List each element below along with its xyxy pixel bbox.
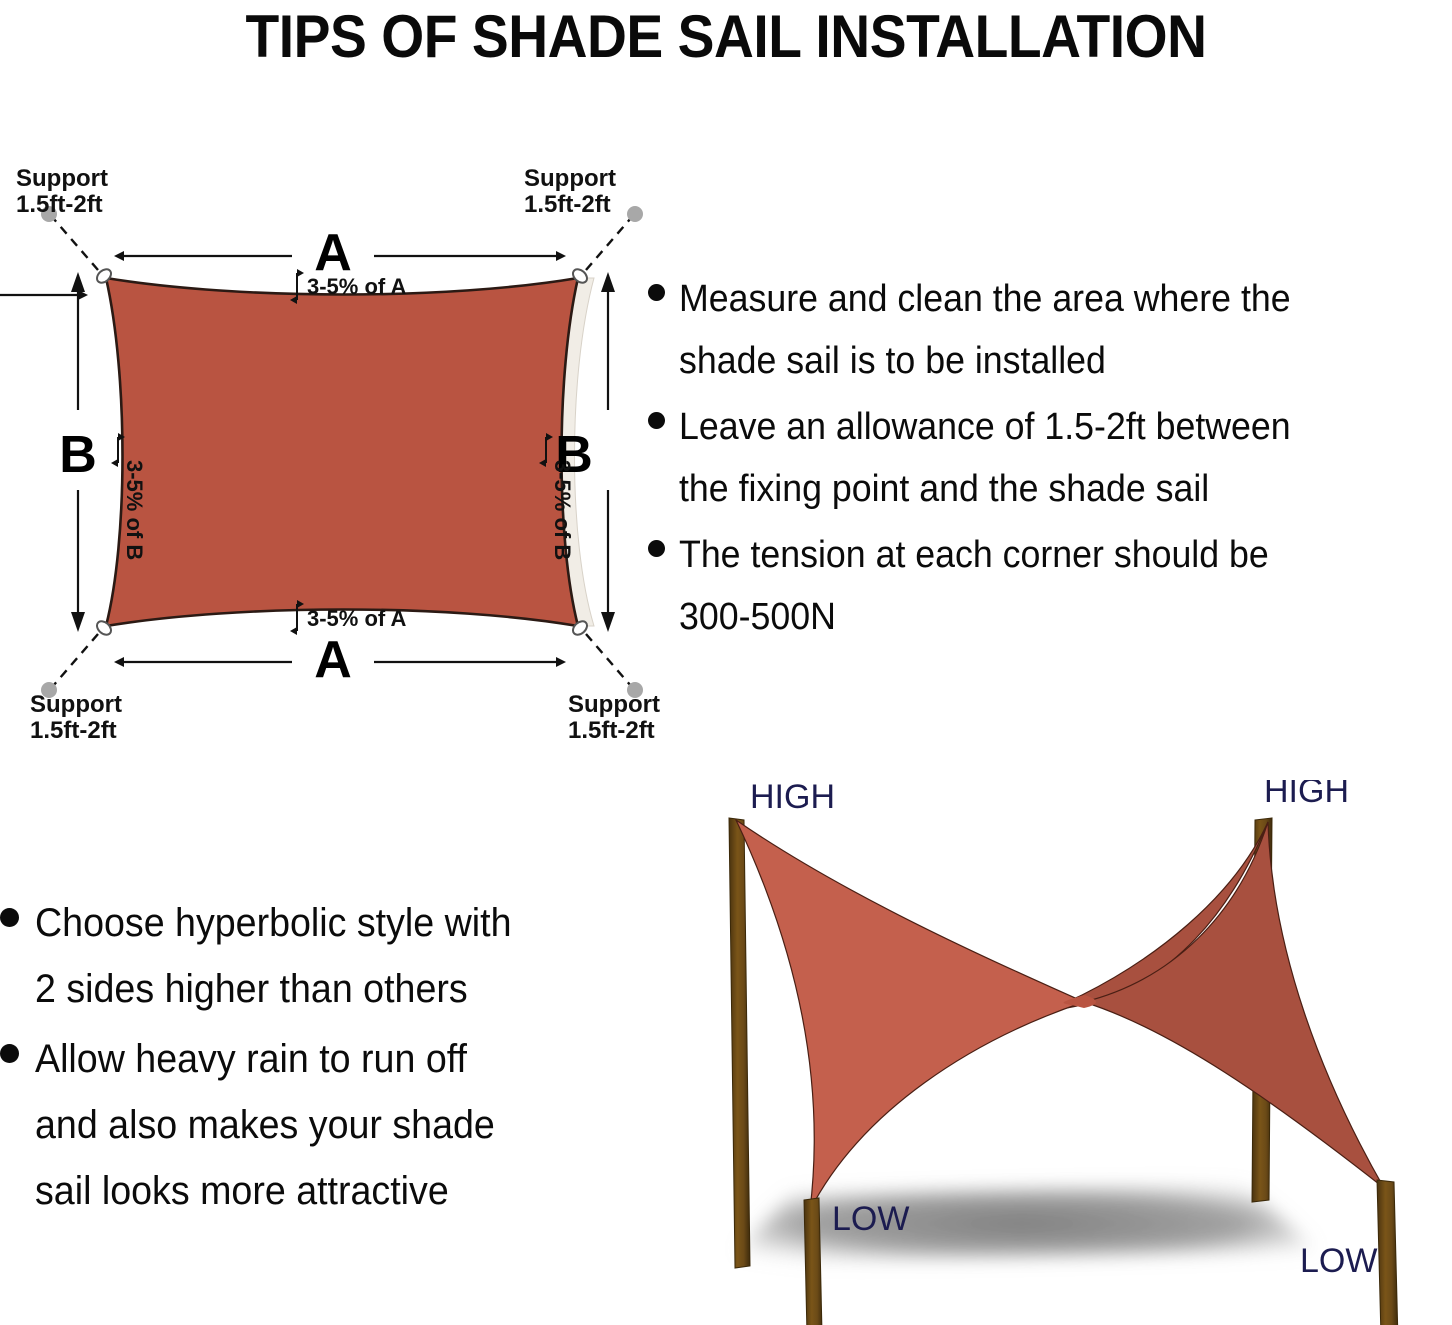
hyperbolic-sail	[736, 820, 1384, 1210]
sag-b-left-label: 3-5% of B	[122, 460, 147, 560]
support-label-value: 1.5ft-2ft	[524, 191, 611, 218]
bullet-dot-icon	[648, 412, 665, 429]
support-label-value: 1.5ft-2ft	[16, 191, 103, 218]
list-item-text: Leave an allowance of 1.5-2ft between th…	[679, 396, 1408, 520]
support-label-bottom-right: Support 1.5ft-2ft	[568, 691, 660, 740]
support-label-value: 1.5ft-2ft	[568, 717, 655, 740]
infographic-page: TIPS OF SHADE SAIL INSTALLATION	[0, 0, 1452, 1325]
pole-front-right-low	[1377, 1180, 1398, 1325]
support-label-value: 1.5ft-2ft	[30, 717, 117, 740]
bullet-dot-icon	[0, 1044, 19, 1063]
dimension-a-bottom: A	[124, 631, 556, 689]
bullet-dot-icon	[648, 540, 665, 557]
page-title: TIPS OF SHADE SAIL INSTALLATION	[58, 0, 1394, 72]
corner-label-high-left: HIGH	[750, 780, 835, 816]
list-item-text: Allow heavy rain to run off and also mak…	[35, 1026, 585, 1224]
dimension-b-label: B	[59, 426, 97, 484]
hyperbolic-style-list: Choose hyperbolic style with 2 sides hig…	[0, 890, 620, 1228]
list-item: Leave an allowance of 1.5-2ft between th…	[648, 396, 1452, 520]
list-item: Choose hyperbolic style with 2 sides hig…	[0, 890, 620, 1022]
sail-plan-diagram: Support 1.5ft-2ft Support 1.5ft-2ft Supp…	[0, 160, 660, 740]
support-label-text: Support	[568, 691, 660, 718]
list-item-text: Choose hyperbolic style with 2 sides hig…	[35, 890, 585, 1022]
sag-a-bottom: 3-5% of A	[297, 604, 407, 631]
support-label-bottom-left: Support 1.5ft-2ft	[30, 691, 122, 740]
dimension-a-label: A	[314, 631, 352, 689]
corner-label-low-left: LOW	[832, 1200, 909, 1238]
shade-sail-shape	[106, 278, 578, 626]
list-item: The tension at each corner should be 300…	[648, 524, 1452, 648]
corner-label-low-right: LOW	[1300, 1242, 1377, 1280]
list-item-text: Measure and clean the area where the sha…	[679, 268, 1408, 392]
pole-back-left	[729, 818, 750, 1268]
support-label-text: Support	[16, 165, 108, 192]
support-label-text: Support	[30, 691, 122, 718]
bullet-dot-icon	[0, 908, 19, 927]
list-item-text: The tension at each corner should be 300…	[679, 524, 1408, 648]
dimension-b-left: B	[0, 272, 97, 632]
support-label-top-right: Support 1.5ft-2ft	[524, 165, 616, 218]
sag-b-right-label: 3-5% of B	[550, 460, 575, 560]
installation-tips-list: Measure and clean the area where the sha…	[648, 268, 1452, 652]
sag-a-top-label: 3-5% of A	[307, 274, 407, 299]
support-label-top-left: Support 1.5ft-2ft	[16, 165, 108, 218]
corner-label-high-right: HIGH	[1264, 780, 1349, 810]
list-item: Allow heavy rain to run off and also mak…	[0, 1026, 620, 1224]
list-item: Measure and clean the area where the sha…	[648, 268, 1452, 392]
support-label-text: Support	[524, 165, 616, 192]
sag-a-bottom-label: 3-5% of A	[307, 606, 407, 631]
bullet-dot-icon	[648, 284, 665, 301]
sag-a-top: 3-5% of A	[297, 273, 407, 300]
hyperbolic-diagram: HIGH HIGH LOW LOW	[672, 780, 1452, 1325]
